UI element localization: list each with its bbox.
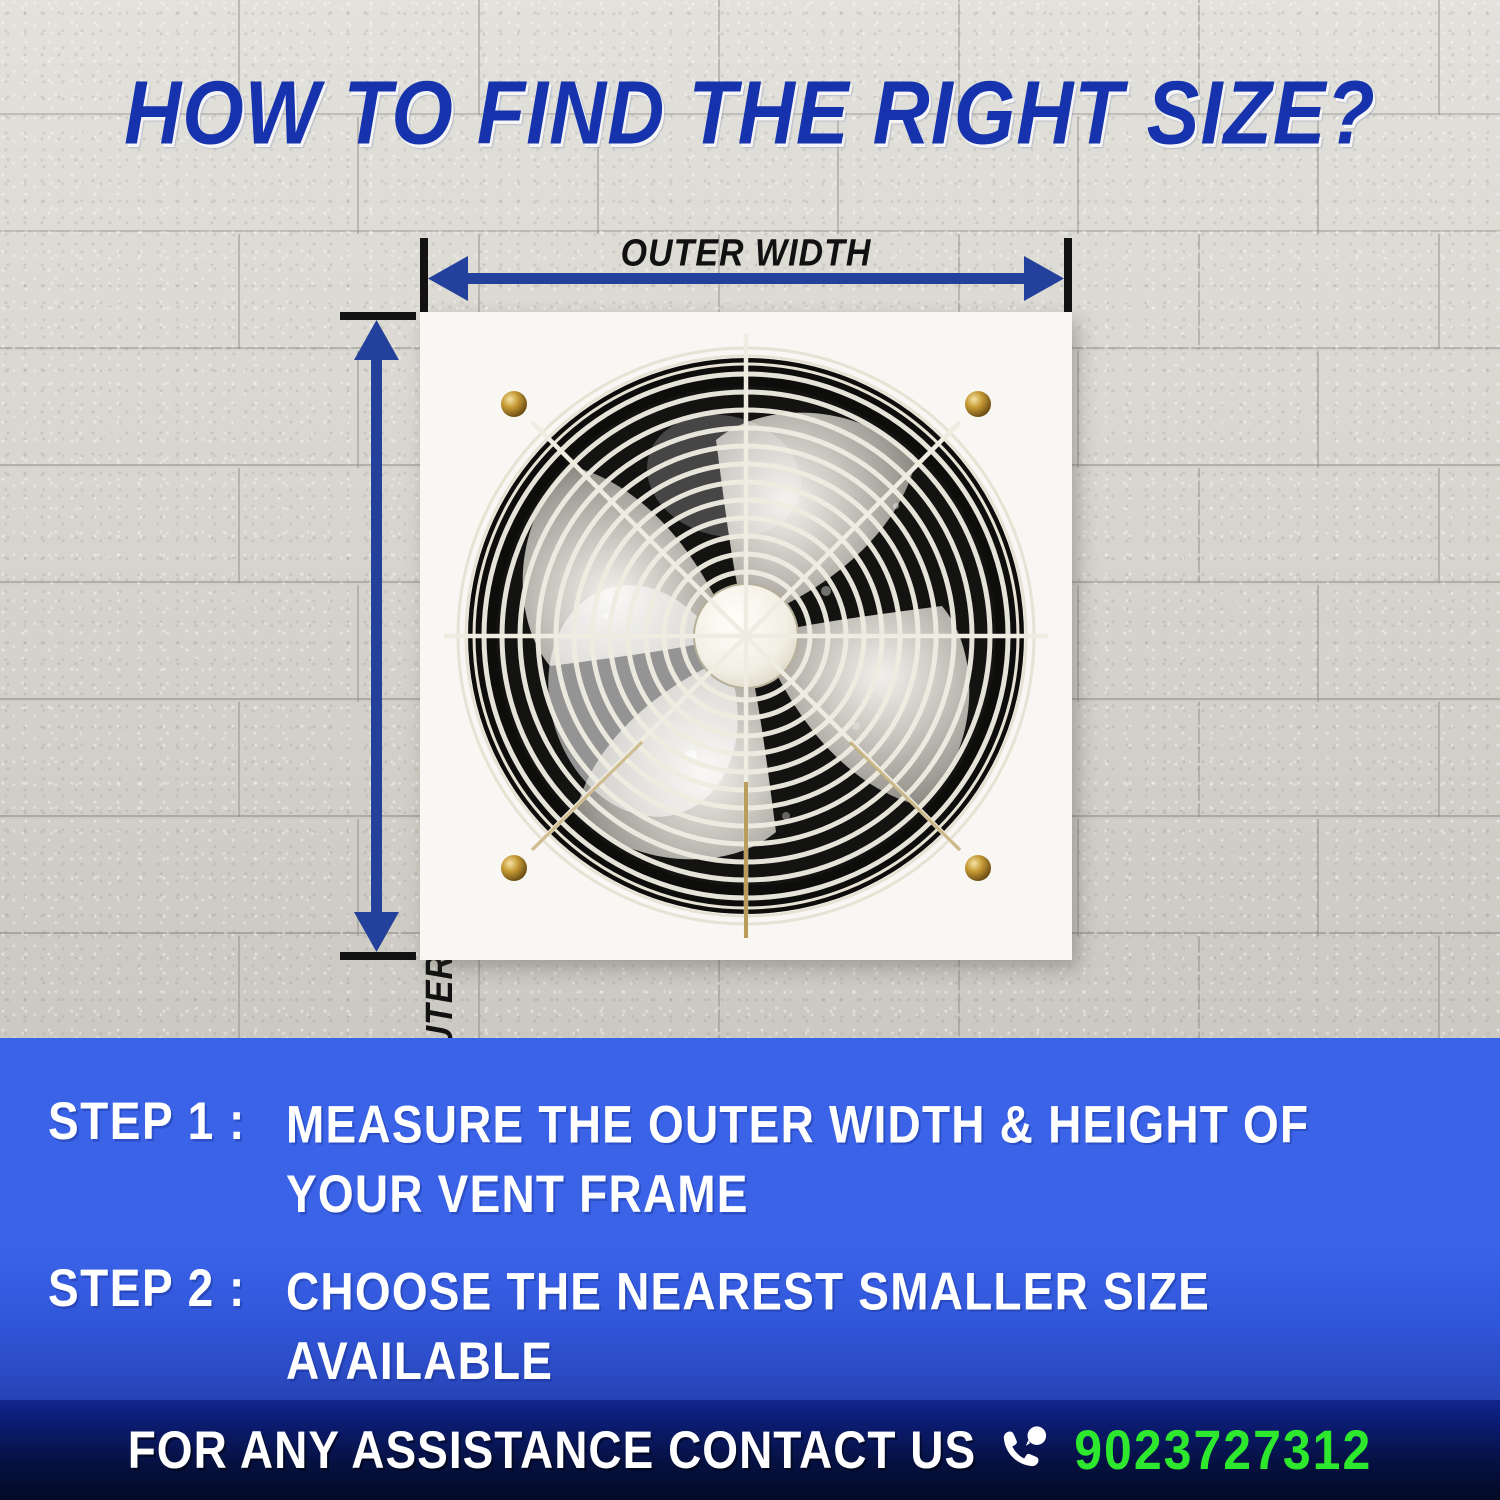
width-cap-right (1064, 238, 1072, 312)
height-cap-top (340, 312, 416, 320)
exhaust-fan-panel (420, 312, 1072, 960)
steps-panel: STEP 1 : MEASURE THE OUTER WIDTH & HEIGH… (0, 1038, 1500, 1400)
contact-footer: FOR ANY ASSISTANCE CONTACT US 9023727312 (0, 1400, 1500, 1500)
height-arrow-shaft (371, 352, 382, 920)
screw-bottom-left (501, 855, 527, 881)
step-1-text: MEASURE THE OUTER WIDTH & HEIGHT OF YOUR… (286, 1090, 1452, 1228)
step-row-2: STEP 2 : CHOOSE THE NEAREST SMALLER SIZE… (48, 1257, 1452, 1378)
outer-height-dimension-arrow: OUTER HEIGHT (340, 312, 420, 960)
contact-label: FOR ANY ASSISTANCE CONTACT US (128, 1419, 977, 1481)
width-arrowhead-left (428, 256, 468, 301)
outer-width-dimension-arrow (420, 232, 1072, 312)
height-arrowhead-top (354, 320, 399, 360)
step-row-1: STEP 1 : MEASURE THE OUTER WIDTH & HEIGH… (48, 1090, 1452, 1211)
width-arrowhead-right (1024, 256, 1064, 301)
screw-bottom-right (965, 855, 991, 881)
height-arrowhead-bottom (354, 912, 399, 952)
screw-top-right (965, 391, 991, 417)
exhaust-fan-image (420, 312, 1072, 960)
fan-svg (420, 312, 1072, 960)
width-cap-left (420, 238, 428, 312)
width-arrow-shaft (460, 273, 1032, 284)
phone-call-icon (998, 1423, 1052, 1477)
step-2-key: STEP 2 : (48, 1257, 286, 1319)
width-arrow-svg (420, 232, 1072, 312)
page-title: HOW TO FIND THE RIGHT SIZE? (0, 62, 1500, 165)
screw-top-left (501, 391, 527, 417)
step-2-text: CHOOSE THE NEAREST SMALLER SIZE AVAILABL… (286, 1257, 1452, 1395)
contact-phone-number[interactable]: 9023727312 (1074, 1418, 1372, 1483)
step-1-key: STEP 1 : (48, 1090, 286, 1152)
height-arrow-svg (340, 312, 420, 960)
height-cap-bottom (340, 952, 416, 960)
